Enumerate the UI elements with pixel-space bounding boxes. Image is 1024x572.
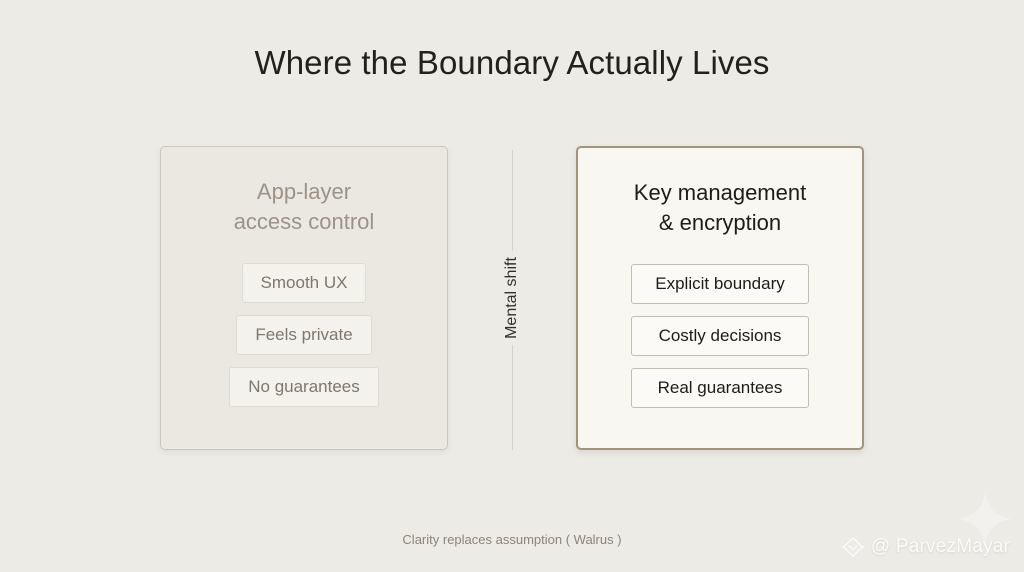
- page-title: Where the Boundary Actually Lives: [0, 44, 1024, 82]
- card-heading-key-management: Key management & encryption: [634, 178, 806, 238]
- card-app-layer: App-layer access control Smooth UX Feels…: [160, 146, 448, 450]
- divider-label-mental-shift: Mental shift: [496, 251, 528, 345]
- comparison-stage: App-layer access control Smooth UX Feels…: [0, 146, 1024, 454]
- list-item[interactable]: No guarantees: [229, 367, 379, 407]
- item-list-key-management: Explicit boundary Costly decisions Real …: [578, 264, 862, 408]
- list-item[interactable]: Feels private: [236, 315, 371, 355]
- sparkle-icon: [958, 492, 1012, 546]
- list-item[interactable]: Explicit boundary: [631, 264, 809, 304]
- card-key-management: Key management & encryption Explicit bou…: [576, 146, 864, 450]
- footer-note: Clarity replaces assumption ( Walrus ): [0, 532, 1024, 547]
- item-list-app-layer: Smooth UX Feels private No guarantees: [161, 263, 447, 407]
- list-item[interactable]: Real guarantees: [631, 368, 809, 408]
- list-item[interactable]: Smooth UX: [242, 263, 367, 303]
- card-heading-app-layer: App-layer access control: [234, 177, 375, 237]
- list-item[interactable]: Costly decisions: [631, 316, 809, 356]
